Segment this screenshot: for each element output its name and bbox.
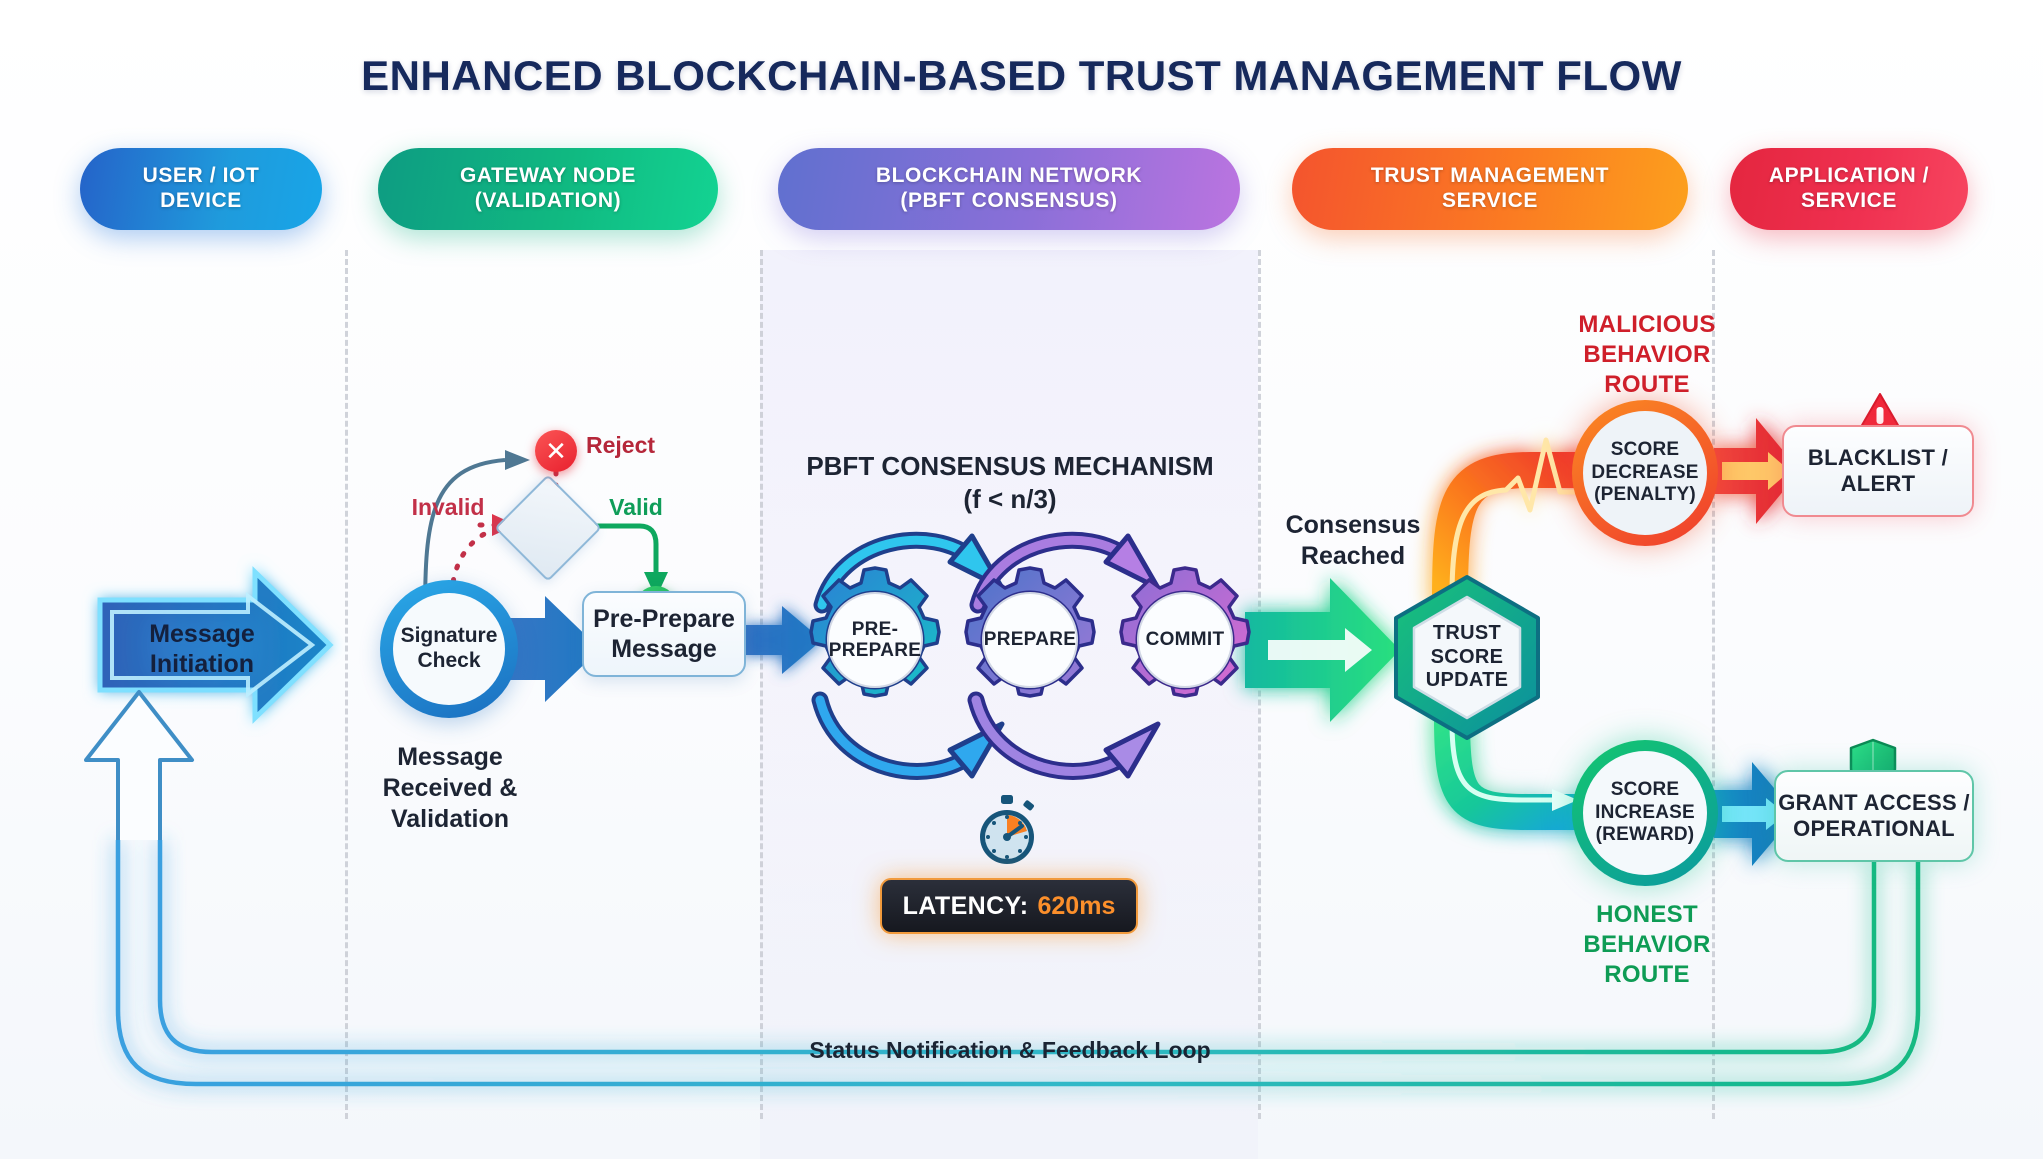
latency-value: 620ms	[1038, 892, 1116, 921]
score-decrease-label: SCORE DECREASE (PENALTY)	[1591, 439, 1698, 506]
message-initiation-label: Message Initiation	[117, 619, 287, 679]
label-line3: ROUTE	[1604, 371, 1690, 398]
label-line3: ROUTE	[1604, 961, 1690, 988]
signature-check-label: Signature Check	[401, 624, 498, 674]
label-line2: Reached	[1301, 542, 1405, 570]
pbft-consensus-heading: PBFT CONSENSUS MECHANISM (f < n/3)	[760, 450, 1260, 515]
trust-score-update-label: TRUST SCORE UPDATE	[1392, 575, 1542, 740]
score-increase-label: SCORE INCREASE (REWARD)	[1595, 779, 1695, 846]
label-line1: BLACKLIST /	[1808, 445, 1948, 470]
pre-prepare-message-node: Pre-Prepare Message	[582, 591, 746, 677]
gear-label-line1: PRE-	[852, 619, 899, 640]
consensus-reached-label: Consensus Reached	[1258, 510, 1448, 572]
stopwatch-icon	[972, 795, 1042, 867]
gear-label-line2: PREPARE	[829, 640, 922, 661]
blacklist-alert-node: BLACKLIST / ALERT	[1782, 425, 1974, 517]
signature-check-node: Signature Check	[380, 580, 518, 718]
x-circle-icon: ✕	[535, 430, 577, 472]
gear-label-line1: PREPARE	[984, 629, 1077, 650]
honest-behavior-route-label: HONEST BEHAVIOR ROUTE	[1552, 900, 1742, 991]
trust-score-update-node: TRUST SCORE UPDATE	[1392, 575, 1542, 740]
gear-commit: COMMIT	[1110, 565, 1260, 715]
gear-label-pre-prepare: PRE- PREPARE	[827, 592, 923, 688]
gear-label-line1: COMMIT	[1146, 629, 1225, 650]
diagram-canvas: ENHANCED BLOCKCHAIN-BASED TRUST MANAGEME…	[0, 0, 2043, 1159]
score-decrease-node: SCORE DECREASE (PENALTY)	[1572, 400, 1718, 546]
heading-line2: (f < n/3)	[963, 484, 1056, 514]
latency-badge: LATENCY: 620ms	[880, 878, 1138, 934]
label-line1: SCORE	[1611, 439, 1680, 460]
label-line1: MALICIOUS	[1578, 311, 1715, 338]
label-line1: Signature	[401, 624, 498, 647]
valid-label: Valid	[588, 494, 684, 521]
label-line2: Initiation	[150, 650, 254, 678]
label-line3: (PENALTY)	[1594, 484, 1696, 505]
feedback-loop-label: Status Notification & Feedback Loop	[700, 1037, 1320, 1064]
gear-label-prepare: PREPARE	[982, 592, 1078, 688]
label-line1: GRANT ACCESS /	[1778, 790, 1970, 815]
caption-line3: Validation	[391, 805, 509, 833]
message-received-caption: Message Received & Validation	[340, 742, 560, 835]
gear-pre-prepare: PRE- PREPARE	[800, 565, 950, 715]
gear-prepare: PREPARE	[955, 565, 1105, 715]
caption-line2: Received &	[383, 774, 518, 802]
invalid-label: Invalid	[392, 494, 504, 521]
label-line2: BEHAVIOR	[1583, 931, 1710, 958]
label-line1: HONEST	[1596, 901, 1698, 928]
gear-label-commit: COMMIT	[1137, 592, 1233, 688]
label-line2: BEHAVIOR	[1583, 341, 1710, 368]
label-line2: ALERT	[1841, 471, 1916, 496]
latency-key: LATENCY:	[903, 892, 1029, 921]
label-line1: SCORE	[1611, 779, 1680, 800]
heading-line1: PBFT CONSENSUS MECHANISM	[806, 451, 1213, 481]
malicious-behavior-route-label: MALICIOUS BEHAVIOR ROUTE	[1552, 310, 1742, 401]
label-line3: (REWARD)	[1596, 824, 1695, 845]
label-line2: SCORE	[1431, 646, 1504, 668]
label-line1: Message	[149, 620, 255, 648]
label-line3: UPDATE	[1426, 669, 1509, 691]
label-line2: OPERATIONAL	[1793, 816, 1955, 841]
consensus-to-trust-arrow	[1245, 578, 1400, 722]
label-line2: DECREASE	[1591, 462, 1698, 483]
label-line2: Message	[611, 635, 717, 663]
caption-line1: Message	[397, 743, 503, 771]
score-increase-node: SCORE INCREASE (REWARD)	[1572, 740, 1718, 886]
label-line1: TRUST	[1433, 622, 1501, 644]
grant-access-node: GRANT ACCESS / OPERATIONAL	[1774, 770, 1974, 862]
label-line2: Check	[417, 649, 480, 672]
message-initiation-node: Message Initiation	[95, 585, 365, 715]
label-line2: INCREASE	[1595, 802, 1695, 823]
label-line1: Consensus	[1286, 511, 1421, 539]
reject-label: Reject	[586, 432, 696, 459]
label-line1: Pre-Prepare	[593, 605, 735, 633]
